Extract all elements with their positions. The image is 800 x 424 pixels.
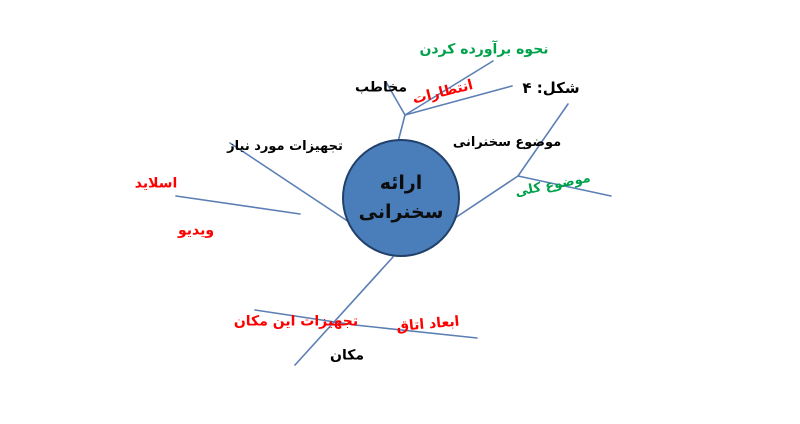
branch-label-speech-topic: موضوع سخنرانی xyxy=(453,136,561,150)
mindmap-canvas: ارائه سخنرانی شکل: ۴ مخاطبانتظاراتنحوه ب… xyxy=(0,0,800,424)
center-node-line1: ارائه xyxy=(380,169,423,198)
edge-equipment-trunk xyxy=(230,143,352,224)
branch-label-place: مکان xyxy=(330,348,364,363)
branch-label-required-equipment: تجهیزات مورد نیاز xyxy=(227,140,343,154)
branch-label-slide: اسلاید xyxy=(135,176,178,191)
edge-equipment-cross xyxy=(176,196,300,214)
branch-label-how-to-meet: نحوه برآورده کردن xyxy=(419,42,548,57)
center-node-line2: سخنرانی xyxy=(359,198,444,227)
center-node: ارائه سخنرانی xyxy=(342,139,460,257)
branch-label-video: ویدیو xyxy=(178,223,214,238)
branch-label-audience: مخاطب xyxy=(355,80,407,95)
branch-label-venue-equipment: تجهیزات این مکان xyxy=(234,314,358,329)
figure-caption: شکل: ۴ xyxy=(522,80,579,97)
